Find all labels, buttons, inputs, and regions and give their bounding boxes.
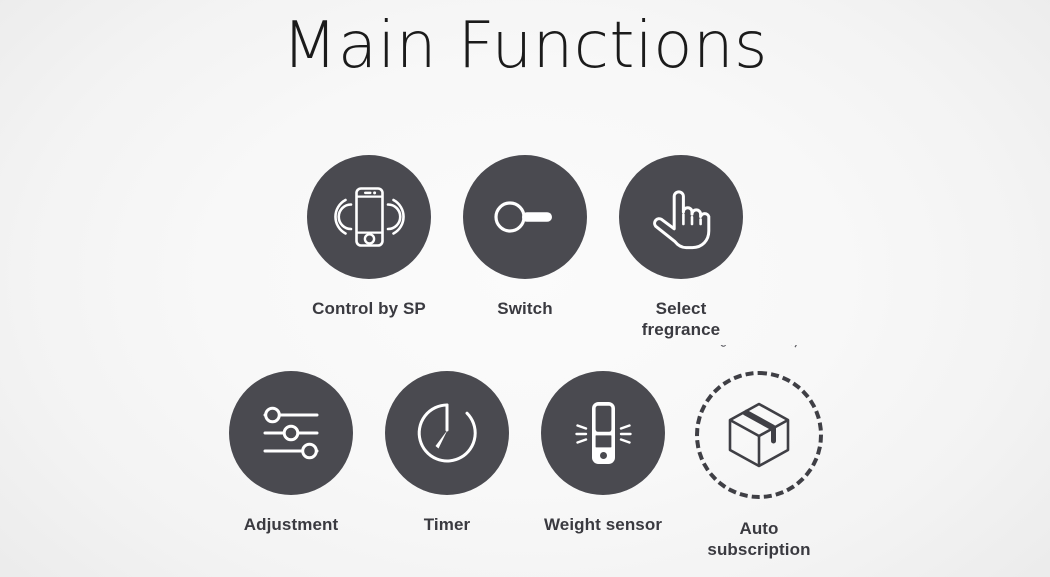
function-label-line-1: Auto	[739, 519, 778, 538]
icon-disc	[385, 371, 509, 495]
function-item-select-fregrance[interactable]: Select fregrance	[603, 155, 759, 340]
toggle-switch-icon	[482, 174, 568, 260]
function-row-1: Control by SP Switch	[0, 155, 1050, 340]
function-label-line-2: subscription	[707, 540, 810, 559]
icon-disc	[619, 155, 743, 279]
function-label: Switch	[497, 298, 552, 319]
timer-icon	[404, 390, 490, 476]
function-item-control-by-sp[interactable]: Control by SP	[291, 155, 447, 319]
function-label: Weight sensor	[544, 514, 662, 535]
page-title: Main Functions	[0, 4, 1050, 88]
coming-soon-text: coming soon	[716, 345, 803, 351]
function-label-line-1: Select	[656, 299, 707, 318]
pointing-hand-icon	[638, 174, 724, 260]
coming-soon-badge: coming soon	[684, 345, 834, 391]
icon-disc	[229, 371, 353, 495]
sliders-icon	[248, 390, 334, 476]
function-label-line-2: fregrance	[642, 320, 720, 339]
function-item-adjustment[interactable]: Adjustment	[213, 371, 369, 535]
function-item-weight-sensor[interactable]: Weight sensor	[525, 371, 681, 535]
function-row-2: Adjustment Timer	[0, 371, 1050, 560]
function-label: Select fregrance	[642, 298, 720, 340]
weight-sensor-icon	[560, 390, 646, 476]
icon-disc	[541, 371, 665, 495]
icon-disc	[463, 155, 587, 279]
package-box-icon	[718, 394, 800, 476]
icon-disc	[307, 155, 431, 279]
function-item-auto-subscription[interactable]: coming soon Auto subscription	[681, 371, 837, 560]
function-item-switch[interactable]: Switch	[447, 155, 603, 319]
slide-canvas: Main Functions	[0, 0, 1050, 577]
function-label: Control by SP	[312, 298, 426, 319]
function-label: Auto subscription	[707, 518, 810, 560]
function-item-timer[interactable]: Timer	[369, 371, 525, 535]
function-label: Timer	[424, 514, 471, 535]
function-label: Adjustment	[244, 514, 339, 535]
icon-disc-dashed: coming soon	[695, 371, 823, 499]
smartphone-vibrate-icon	[326, 174, 412, 260]
